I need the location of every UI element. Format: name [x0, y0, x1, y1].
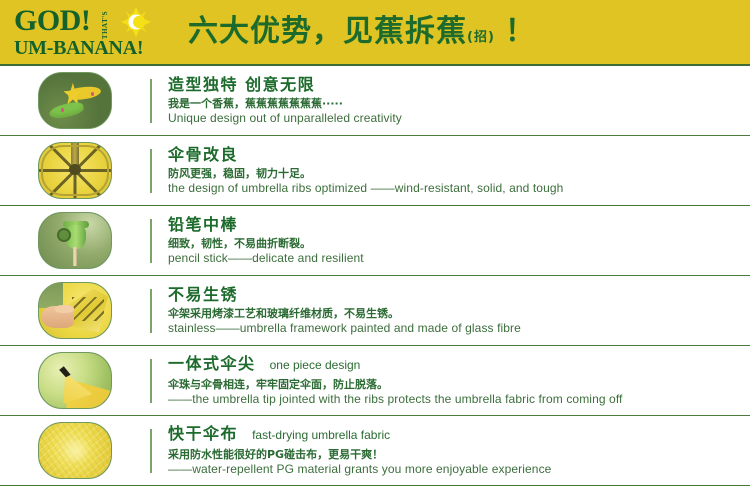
vertical-divider: [150, 359, 152, 403]
vertical-divider: [150, 289, 152, 333]
page-title-annotation: (招): [467, 22, 495, 54]
vertical-divider: [150, 149, 152, 193]
feature-title: 伞骨改良: [168, 145, 746, 164]
list-item: 伞骨改良 防风更强，稳固，韧力十足。 the design of umbrell…: [0, 136, 750, 206]
feature-list: 造型独特 创意无限 我是一个香蕉，蕉蕉蕉蕉蕉蕉蕉····· Unique des…: [0, 66, 750, 486]
feature-line-en: pencil stick——delicate and resilient: [168, 251, 746, 266]
list-item: 快干伞布 fast-drying umbrella fabric 采用防水性能很…: [0, 416, 750, 486]
feature-title-cn: 伞骨改良: [168, 145, 238, 164]
feature-line-en: Unique design out of unparalleled creati…: [168, 111, 746, 126]
feature-line-cn: 防风更强，稳固，韧力十足。: [168, 166, 746, 181]
feature-text: 铅笔中棒 细致，韧性，不易曲折断裂。 pencil stick——delicat…: [168, 215, 750, 266]
feature-thumbnail-cell: [0, 206, 150, 275]
feature-title: 造型独特 创意无限: [168, 75, 746, 94]
feature-thumbnail-cell: [0, 136, 150, 205]
feature-line-cn: 细致，韧性，不易曲折断裂。: [168, 236, 746, 251]
vertical-divider: [150, 429, 152, 473]
feature-line-en: ——the umbrella tip jointed with the ribs…: [168, 392, 746, 407]
sun-with-crescent-icon: [121, 7, 151, 37]
yellow-fabric-texture-photo: [38, 422, 112, 479]
promo-banner: GOD! THAT'S: [0, 0, 750, 500]
brand-word-god: GOD!: [14, 7, 90, 35]
feature-line-cn: 我是一个香蕉，蕉蕉蕉蕉蕉蕉蕉·····: [168, 96, 746, 111]
vertical-divider: [150, 79, 152, 123]
page-title-main: 六大优势，见蕉拆蕉: [188, 16, 467, 48]
umbrella-ribs-interior-photo: [38, 142, 112, 199]
feature-line-en: ——water-repellent PG material grants you…: [168, 462, 746, 477]
feature-title: 铅笔中棒: [168, 215, 746, 234]
feature-title-cn: 不易生锈: [168, 285, 238, 304]
page-title-exclamation: ！: [505, 16, 536, 48]
feature-title: 一体式伞尖 one piece design: [168, 354, 746, 375]
feature-thumbnail-cell: [0, 276, 150, 345]
feature-title-cn: 铅笔中棒: [168, 215, 238, 234]
feature-title-cn: 快干伞布: [168, 424, 238, 443]
brand-logo: GOD! THAT'S: [0, 0, 176, 64]
list-item: 造型独特 创意无限 我是一个香蕉，蕉蕉蕉蕉蕉蕉蕉····· Unique des…: [0, 66, 750, 136]
feature-title: 快干伞布 fast-drying umbrella fabric: [168, 424, 746, 445]
feature-text: 造型独特 创意无限 我是一个香蕉，蕉蕉蕉蕉蕉蕉蕉····· Unique des…: [168, 75, 750, 126]
feature-text: 快干伞布 fast-drying umbrella fabric 采用防水性能很…: [168, 424, 750, 477]
pencil-stick-closeup-photo: [38, 212, 112, 269]
list-item: 不易生锈 伞架采用烤漆工艺和玻璃纤维材质，不易生锈。 stainless——um…: [0, 276, 750, 346]
umbrella-tip-closeup-photo: [38, 352, 112, 409]
list-item: 一体式伞尖 one piece design 伞珠与伞骨相连，牢牢固定伞面，防止…: [0, 346, 750, 416]
feature-text: 不易生锈 伞架采用烤漆工艺和玻璃纤维材质，不易生锈。 stainless——um…: [168, 285, 750, 336]
vertical-divider: [150, 219, 152, 263]
brand-word-thats: THAT'S: [101, 11, 109, 39]
feature-line-cn: 采用防水性能很好的PG碰击布，更易干爽！: [168, 447, 746, 462]
feature-title-cn: 造型独特 创意无限: [168, 75, 315, 94]
feature-title-en: one piece design: [270, 358, 361, 372]
feature-title: 不易生锈: [168, 285, 746, 304]
feature-line-en: stainless——umbrella framework painted an…: [168, 321, 746, 336]
list-item: 铅笔中棒 细致，韧性，不易曲折断裂。 pencil stick——delicat…: [0, 206, 750, 276]
banner-header: GOD! THAT'S: [0, 0, 750, 66]
brand-word-umbanana: UM-BANANA!: [14, 37, 143, 59]
banana-umbrella-on-grass-photo: [38, 72, 112, 129]
feature-thumbnail-cell: [0, 416, 150, 485]
feature-line-en: the design of umbrella ribs optimized ——…: [168, 181, 746, 196]
hand-holding-folded-umbrella-photo: [38, 282, 112, 339]
feature-text: 伞骨改良 防风更强，稳固，韧力十足。 the design of umbrell…: [168, 145, 750, 196]
feature-thumbnail-cell: [0, 66, 150, 135]
feature-title-cn: 一体式伞尖: [168, 354, 256, 373]
feature-thumbnail-cell: [0, 346, 150, 415]
page-title: 六大优势，见蕉拆蕉 (招) ！: [176, 16, 750, 48]
feature-line-cn: 伞架采用烤漆工艺和玻璃纤维材质，不易生锈。: [168, 306, 746, 321]
feature-line-cn: 伞珠与伞骨相连，牢牢固定伞面，防止脱落。: [168, 377, 746, 392]
feature-title-en: fast-drying umbrella fabric: [252, 428, 390, 442]
feature-text: 一体式伞尖 one piece design 伞珠与伞骨相连，牢牢固定伞面，防止…: [168, 354, 750, 407]
brand-logo-top-line: GOD! THAT'S: [14, 5, 151, 35]
